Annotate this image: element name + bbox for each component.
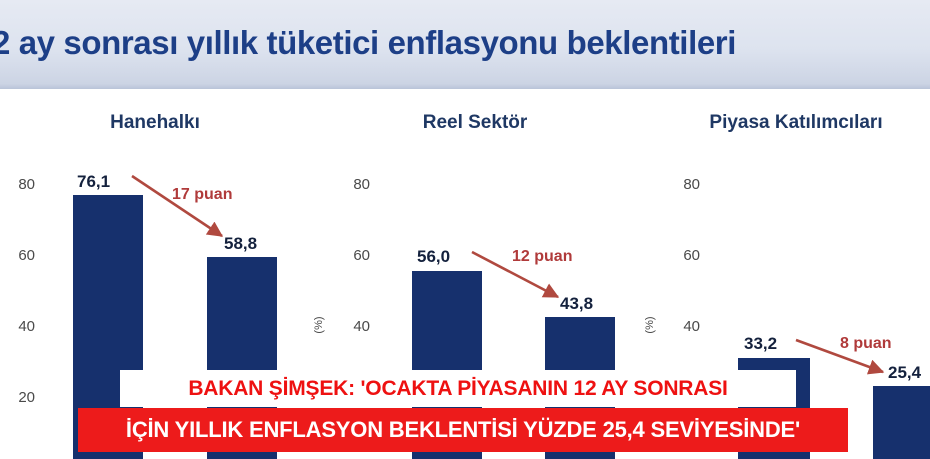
caption-line1: BAKAN ŞİMŞEK: 'OCAKTA PİYASANIN 12 AY SO… <box>120 370 796 407</box>
header-band: 2 ay sonrası yıllık tüketici enflasyonu … <box>0 0 930 89</box>
screenshot-root: 2 ay sonrası yıllık tüketici enflasyonu … <box>0 0 930 459</box>
page-title: 2 ay sonrası yıllık tüketici enflasyonu … <box>0 20 892 66</box>
caption-line2: İÇİN YILLIK ENFLASYON BEKLENTİSİ YÜZDE 2… <box>78 408 848 452</box>
